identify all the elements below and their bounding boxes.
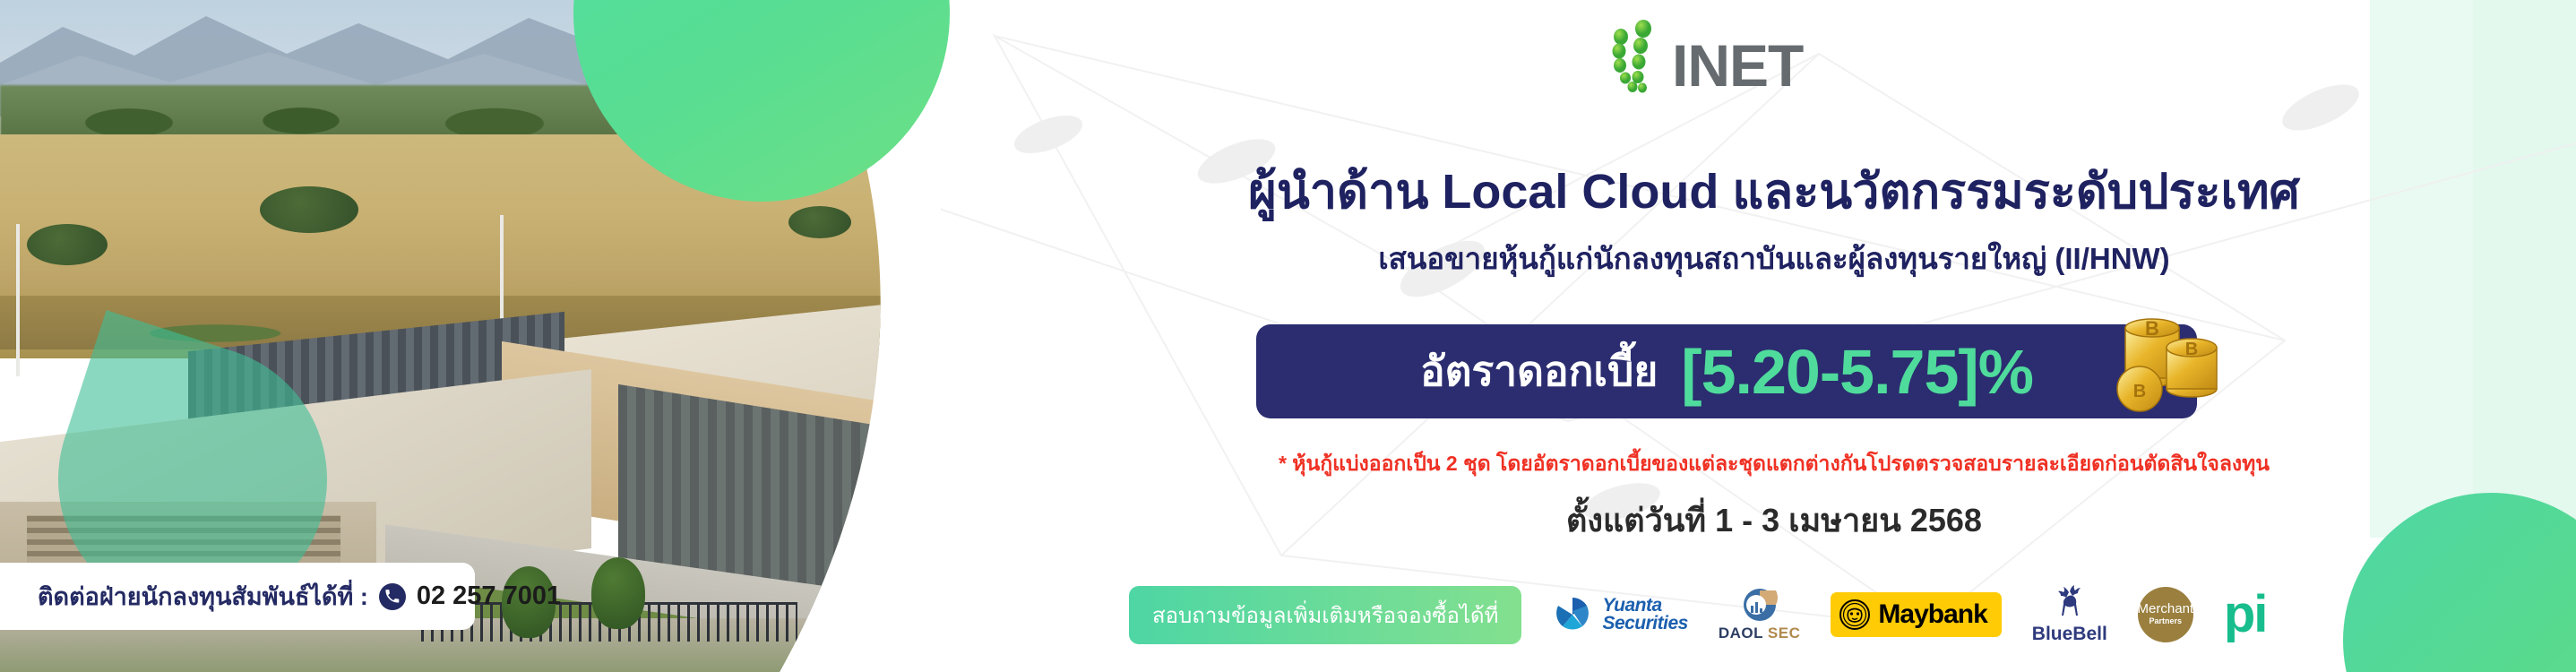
daol-line1: DAOL	[1719, 625, 1763, 642]
cta-and-brokers-row: สอบถามข้อมูลเพิ่มเติมหรือจองซื้อได้ที่	[1129, 584, 2491, 645]
bluebell-deer-icon	[2052, 584, 2088, 622]
svg-text:B: B	[2145, 317, 2159, 340]
maybank-tiger-icon	[1839, 599, 1870, 630]
phone-icon	[379, 583, 406, 610]
broker-logo-merchant-partners[interactable]: Merchant Partners	[2138, 587, 2193, 642]
bond-disclaimer: * หุ้นกู้แบ่งออกเป็น 2 ชุด โดยอัตราดอกเบ…	[1057, 448, 2491, 480]
field-tree	[260, 186, 358, 233]
bluebell-wordmark: BlueBell	[2032, 624, 2107, 645]
inet-logo: INET	[1604, 20, 1803, 93]
subheadline: เสนอขายหุ้นกู้แก่นักลงทุนสถาบันและผู้ลงท…	[1057, 235, 2491, 282]
broker-logo-list: Yuanta Securities DAOL SEC	[1552, 584, 2266, 645]
maybank-wordmark: Maybank	[1878, 599, 1986, 630]
contact-phone-number: 02 257 7001	[417, 582, 561, 611]
merchant-line1: Merchant	[2138, 602, 2194, 616]
pi-wordmark: pi	[2224, 594, 2267, 635]
field-tree	[27, 224, 108, 265]
field-tree	[788, 206, 851, 238]
yuanta-line1: Yuanta	[1602, 597, 1687, 615]
broker-logo-pi[interactable]: pi	[2224, 594, 2267, 635]
merchant-line2: Partners	[2150, 616, 2183, 627]
broker-logo-yuanta[interactable]: Yuanta Securities	[1552, 594, 1687, 635]
interest-rate-value: [5.20-5.75]%	[1681, 336, 2033, 408]
daol-line2: SEC	[1768, 625, 1800, 642]
yuanta-line2: Securities	[1602, 615, 1687, 633]
broker-logo-bluebell[interactable]: BlueBell	[2032, 584, 2107, 645]
utility-pole	[16, 224, 20, 376]
content-column: INET ผู้นำด้าน Local Cloud และนวัตกรรมระ…	[1057, 0, 2491, 672]
yuanta-star-icon	[1552, 594, 1593, 635]
contact-label: ติดต่อฝ่ายนักลงทุนสัมพันธ์ได้ที่ :	[38, 577, 368, 616]
inet-leaf-dots-icon	[1604, 20, 1668, 93]
svg-text:B: B	[2185, 340, 2198, 359]
offering-dates: ตั้งแต่วันที่ 1 - 3 เมษายน 2568	[1057, 495, 2491, 546]
svg-text:B: B	[2133, 382, 2146, 401]
daol-circle-icon	[1740, 587, 1779, 623]
gold-coins-icon: B B B	[2113, 292, 2229, 413]
planted-tree	[591, 557, 645, 629]
interest-rate-label: อัตราดอกเบี้ย	[1420, 339, 1658, 404]
inet-logo-text: INET	[1672, 39, 1803, 93]
utility-pole	[963, 208, 967, 333]
broker-logo-maybank[interactable]: Maybank	[1831, 592, 2001, 637]
enquiry-button[interactable]: สอบถามข้อมูลเพิ่มเติมหรือจองซื้อได้ที่	[1129, 586, 1521, 644]
promotional-banner: ติดต่อฝ่ายนักลงทุนสัมพันธ์ได้ที่ : 02 25…	[0, 0, 2576, 672]
interest-rate-box: อัตราดอกเบี้ย [5.20-5.75]%	[1256, 324, 2197, 418]
headline: ผู้นำด้าน Local Cloud และนวัตกรรมระดับปร…	[1057, 152, 2491, 229]
investor-relations-contact: ติดต่อฝ่ายนักลงทุนสัมพันธ์ได้ที่ : 02 25…	[0, 563, 475, 630]
broker-logo-daol[interactable]: DAOL SEC	[1719, 587, 1801, 642]
